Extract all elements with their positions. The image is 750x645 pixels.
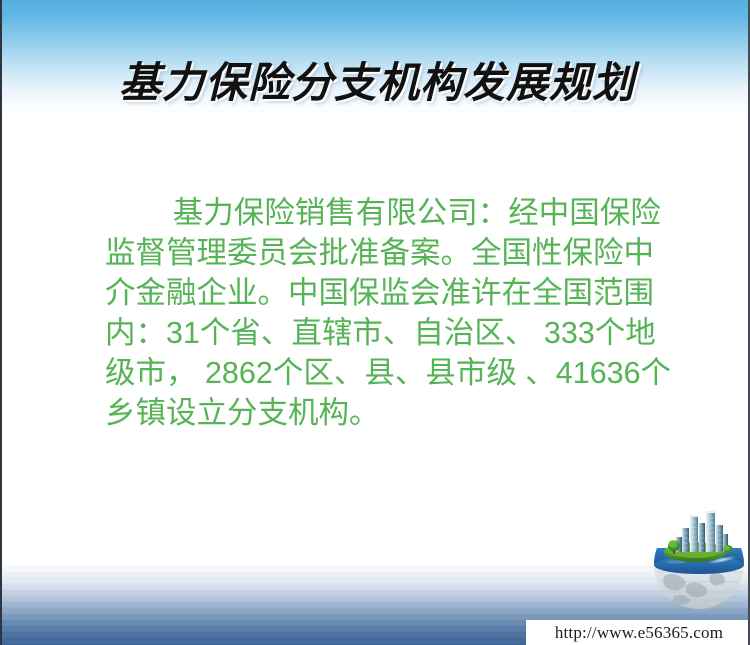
presentation-slide: 基力保险分支机构发展规划 基力保险销售有限公司：经中国保险监督管理委员会批准备案… bbox=[0, 0, 750, 645]
watermark-url-text: http://www.e56365.com bbox=[555, 623, 723, 643]
site-url-watermark: http://www.e56365.com bbox=[526, 620, 750, 645]
green-earth-city-globe-icon bbox=[650, 508, 748, 612]
slide-body-paragraph: 基力保险销售有限公司：经中国保险监督管理委员会批准备案。全国性保险中介金融企业。… bbox=[105, 193, 675, 433]
slide-title: 基力保险分支机构发展规划 bbox=[2, 56, 750, 112]
